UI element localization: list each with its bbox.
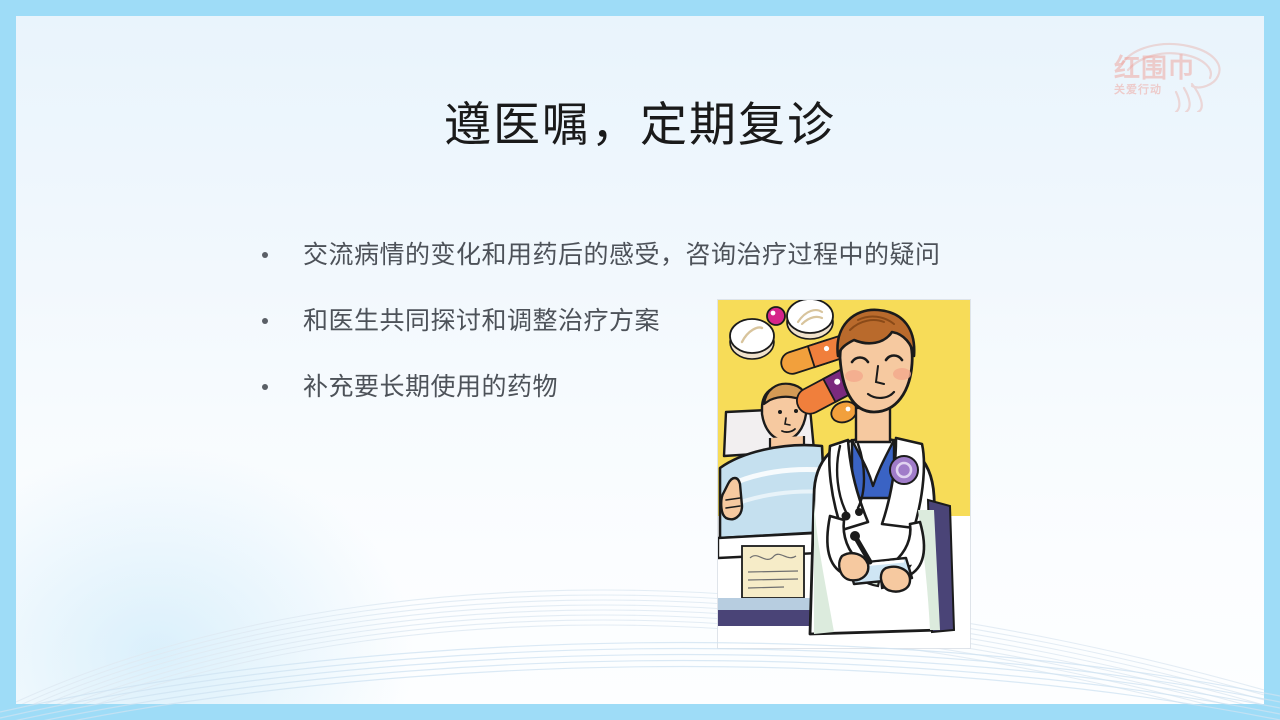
wave-decoration <box>16 514 1264 704</box>
bullet-dot-icon <box>262 384 268 390</box>
bullet-text: 补充要长期使用的药物 <box>303 370 558 404</box>
slide-root: 红围巾 关爱行动 遵医嘱，定期复诊 交流病情的变化和用药后的感受，咨询治疗过程中… <box>0 0 1280 720</box>
bullet-dot-icon <box>262 252 268 258</box>
bullet-text: 交流病情的变化和用药后的感受，咨询治疗过程中的疑问 <box>303 238 941 272</box>
logo-title: 红围巾 <box>1114 53 1195 84</box>
corner-glow-decoration <box>16 444 416 704</box>
list-item: 交流病情的变化和用药后的感受，咨询治疗过程中的疑问 <box>262 238 1022 272</box>
doctor-patient-illustration <box>718 300 970 648</box>
bullet-dot-icon <box>262 318 268 324</box>
slide-content-panel: 红围巾 关爱行动 遵医嘱，定期复诊 交流病情的变化和用药后的感受，咨询治疗过程中… <box>16 16 1264 704</box>
page-title: 遵医嘱，定期复诊 <box>16 86 1264 155</box>
bullet-text: 和医生共同探讨和调整治疗方案 <box>303 304 660 338</box>
illustration-artwork <box>718 300 970 648</box>
